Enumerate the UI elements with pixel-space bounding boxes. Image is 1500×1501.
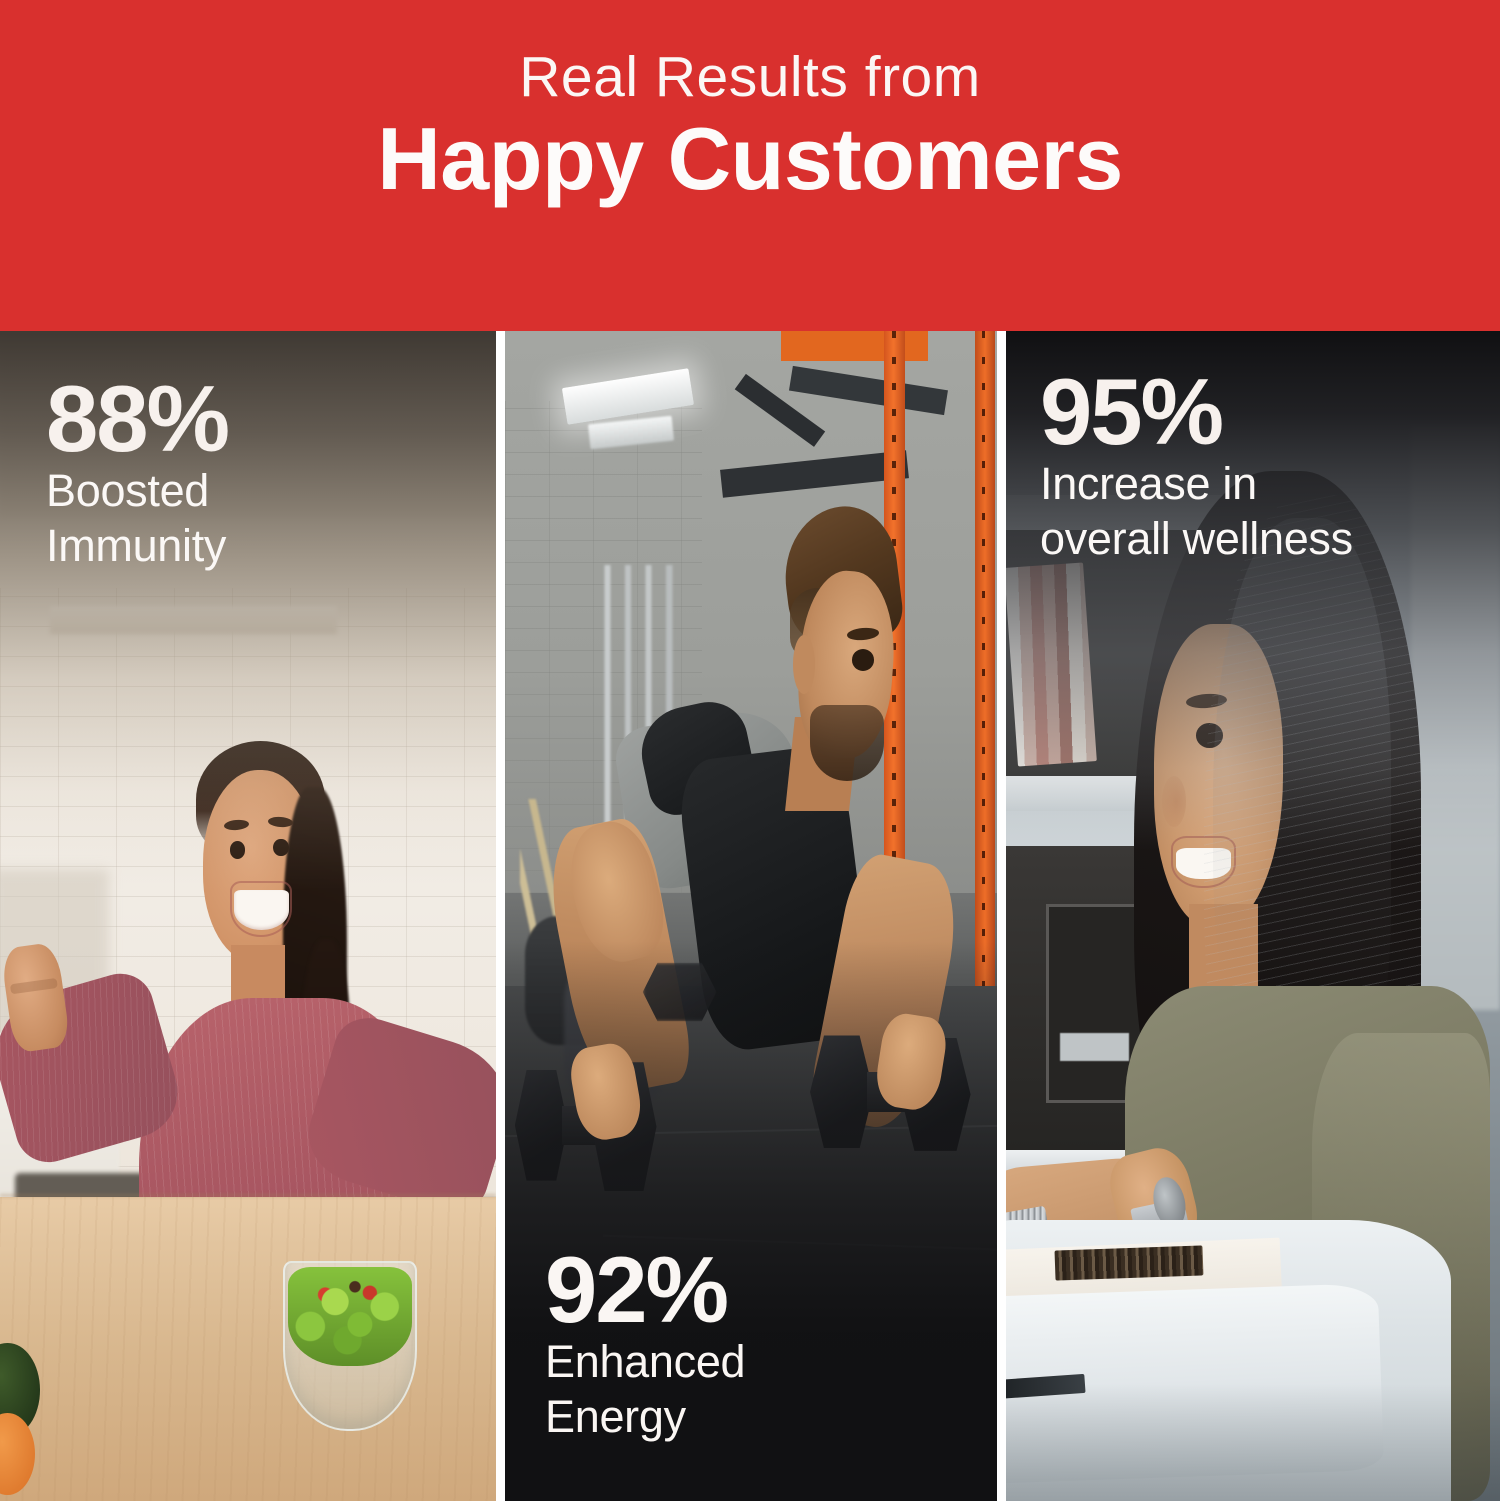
stat-value-energy: 92% [545,1247,745,1333]
man-ear [793,635,815,694]
stat-value-immunity: 88% [46,376,228,462]
stat-block-energy: 92% Enhanced Energy [545,1247,745,1443]
office-right-wall [1411,425,1500,1010]
notebook-spiral [1055,1246,1204,1282]
panel-divider-left [496,331,505,1501]
kitchen-shelf [50,606,338,634]
man-beard [810,705,884,781]
panel-divider-right [997,331,1006,1501]
background-dumbbell [643,963,717,1022]
stat-label-wellness-line1: Increase in [1040,459,1353,510]
salad-greens [288,1267,412,1366]
woman-left-eye [230,841,245,859]
page-title-line2: Happy Customers [377,112,1123,205]
stat-value-wellness: 95% [1040,369,1353,455]
woman2-nose [1162,776,1187,827]
stat-label-energy-line1: Enhanced [545,1337,745,1388]
desk-shadow [1006,1384,1500,1501]
dumbbell-left-head-near [515,1070,568,1181]
stat-label-immunity-line2: Immunity [46,521,228,572]
header-banner: Real Results from Happy Customers [0,0,1500,331]
woman-right-eye [273,839,288,857]
woman-smile-teeth [234,890,289,930]
stat-label-immunity-line1: Boosted [46,466,228,517]
page-title-line1: Real Results from [519,49,980,106]
panel-energy: 92% Enhanced Energy [505,331,997,1501]
panel-strip: 88% Boosted Immunity [0,331,1500,1501]
stat-label-wellness-line2: overall wellness [1040,514,1353,565]
stat-label-energy-line2: Energy [545,1392,745,1443]
counter-wood-grain [0,1197,496,1501]
framed-box-label [1060,1033,1129,1061]
stat-block-wellness: 95% Increase in overall wellness [1040,369,1353,565]
dumbbell-right-head-near [810,1035,874,1148]
panel-wellness: 95% Increase in overall wellness [1006,331,1500,1501]
rack-top-beam [781,331,929,361]
books [1006,562,1097,766]
panel-immunity: 88% Boosted Immunity [0,331,496,1501]
stat-block-immunity: 88% Boosted Immunity [46,376,228,572]
infographic-poster: Real Results from Happy Customers [0,0,1500,1501]
